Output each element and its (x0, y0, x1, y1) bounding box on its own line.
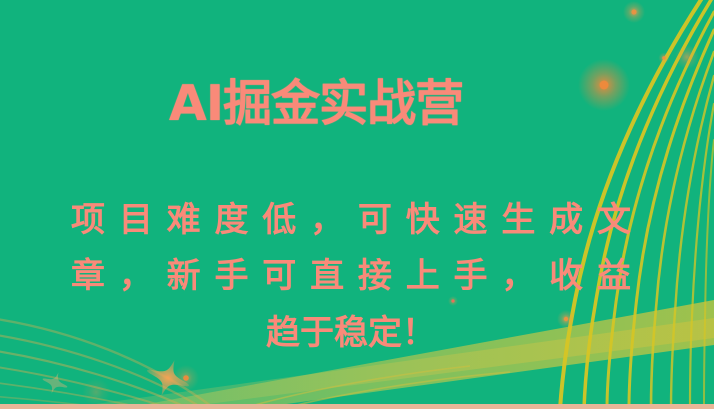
bottom-edge-strip (0, 404, 714, 409)
text-content-layer: AI掘金实战营 项目难度低，可快速生成文 章，新手可直接上手，收益 趋于稳定！ (0, 0, 714, 409)
poster-canvas: AI掘金实战营 项目难度低，可快速生成文 章，新手可直接上手，收益 趋于稳定！ (0, 0, 714, 409)
subtitle-line-2: 章，新手可直接上手，收益 (71, 248, 631, 304)
subtitle-block: 项目难度低，可快速生成文 章，新手可直接上手，收益 趋于稳定！ (71, 192, 631, 361)
subtitle-line-1: 项目难度低，可快速生成文 (71, 192, 631, 248)
subtitle-line-3: 趋于稳定！ (71, 305, 631, 361)
page-title: AI掘金实战营 (0, 78, 673, 129)
